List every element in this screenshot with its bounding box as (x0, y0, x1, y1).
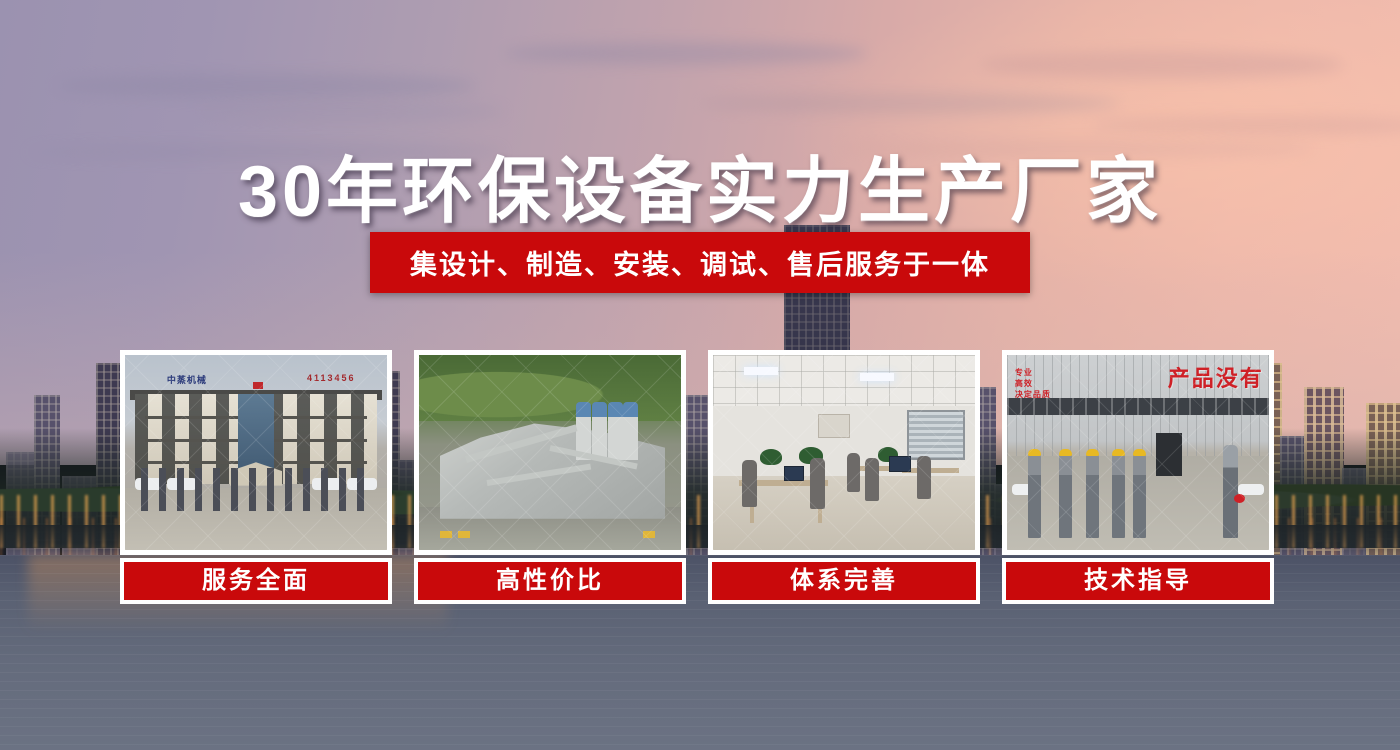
cloud (700, 93, 1120, 114)
card-caption: 高性价比 (414, 558, 686, 604)
card-caption: 服务全面 (120, 558, 392, 604)
card-photo-workers[interactable]: 产品没有 专业高效决定品质成就辉煌 (1002, 350, 1274, 555)
feature-card[interactable]: 产品没有 专业高效决定品质成就辉煌 (1002, 350, 1274, 604)
subtitle-banner: 集设计、制造、安装、调试、售后服务于一体 (370, 232, 1030, 293)
banner-stage: 30年环保设备实力生产厂家 集设计、制造、安装、调试、售后服务于一体 (0, 0, 1400, 750)
supervisor-figure (1223, 445, 1238, 539)
feature-card[interactable]: 中蒸机械 4113456 服务全面 (120, 350, 392, 604)
wall-art (818, 414, 850, 438)
factory-sign-text: 产品没有 (1168, 361, 1264, 393)
cloud (196, 102, 504, 121)
flag-icon (253, 382, 263, 389)
hard-hat-icon (1086, 449, 1099, 456)
card-photo-office[interactable] (708, 350, 980, 555)
photo-factory-workers: 产品没有 专业高效决定品质成就辉煌 (1007, 355, 1269, 550)
cloud (980, 51, 1344, 79)
hard-hat-icon (1059, 449, 1072, 456)
hard-hat-icon (1133, 449, 1146, 456)
feature-card-row: 中蒸机械 4113456 服务全面 (120, 350, 1274, 604)
building-sign-text: 中蒸机械 (167, 373, 207, 386)
card-caption: 技术指导 (1002, 558, 1274, 604)
building-phone-text: 4113456 (307, 373, 356, 383)
page-title: 30年环保设备实力生产厂家 (0, 132, 1400, 237)
card-photo-plant[interactable] (414, 350, 686, 555)
staff-row (141, 468, 372, 511)
feature-card[interactable]: 高性价比 (414, 350, 686, 604)
hard-hat-icon (1028, 449, 1041, 456)
cloud (56, 74, 476, 97)
office-window (907, 410, 965, 461)
card-caption: 体系完善 (708, 558, 980, 604)
card-photo-headquarters[interactable]: 中蒸机械 4113456 (120, 350, 392, 555)
photo-office-building: 中蒸机械 4113456 (125, 355, 387, 550)
photo-industrial-plant (419, 355, 681, 550)
factory-door (1156, 433, 1182, 476)
cloud (504, 42, 868, 65)
feature-card[interactable]: 体系完善 (708, 350, 980, 604)
hard-hat-icon (1112, 449, 1125, 456)
photo-office-interior (713, 355, 975, 550)
